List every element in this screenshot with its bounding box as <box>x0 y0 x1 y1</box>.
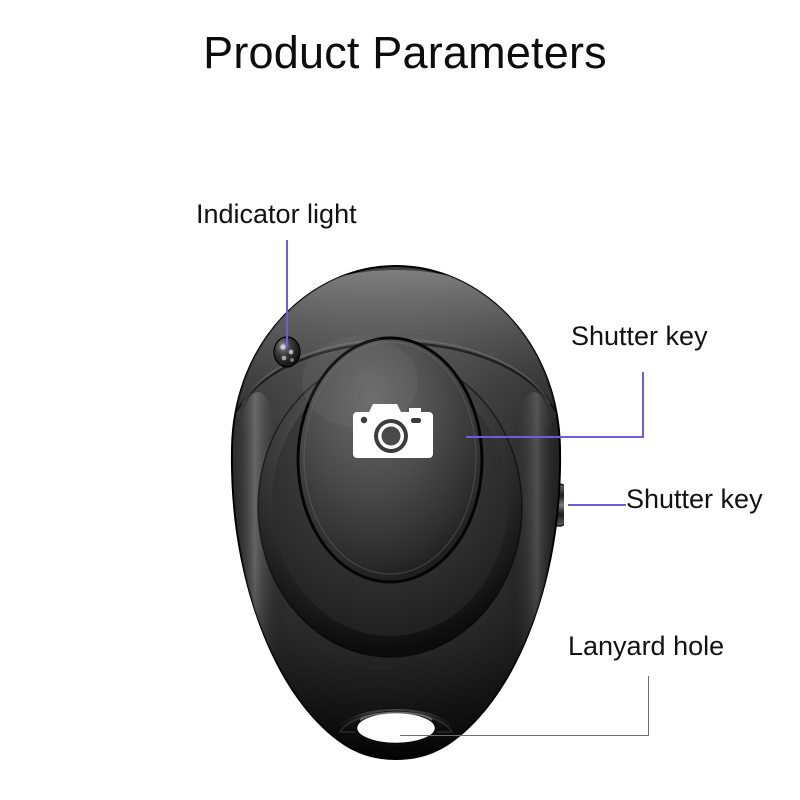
product-parameters-diagram: Product Parameters <box>0 0 800 800</box>
product-illustration <box>228 262 564 762</box>
leader-line-indicator-light <box>286 240 288 347</box>
leader-line-lanyard-hole-horizontal <box>400 735 649 736</box>
leader-line-shutter-key-top-vertical <box>642 372 644 438</box>
callout-label-lanyard-hole: Lanyard hole <box>568 632 724 662</box>
leader-line-shutter-key-top-horizontal <box>466 436 644 438</box>
callout-label-shutter-key-top: Shutter key <box>571 322 708 352</box>
leader-line-shutter-key-side <box>568 504 626 506</box>
callout-label-indicator-light: Indicator light <box>196 200 357 230</box>
page-title: Product Parameters <box>0 28 800 78</box>
camera-icon <box>345 398 437 466</box>
callout-label-shutter-key-side: Shutter key <box>626 485 763 515</box>
leader-line-lanyard-hole-vertical <box>648 676 649 736</box>
